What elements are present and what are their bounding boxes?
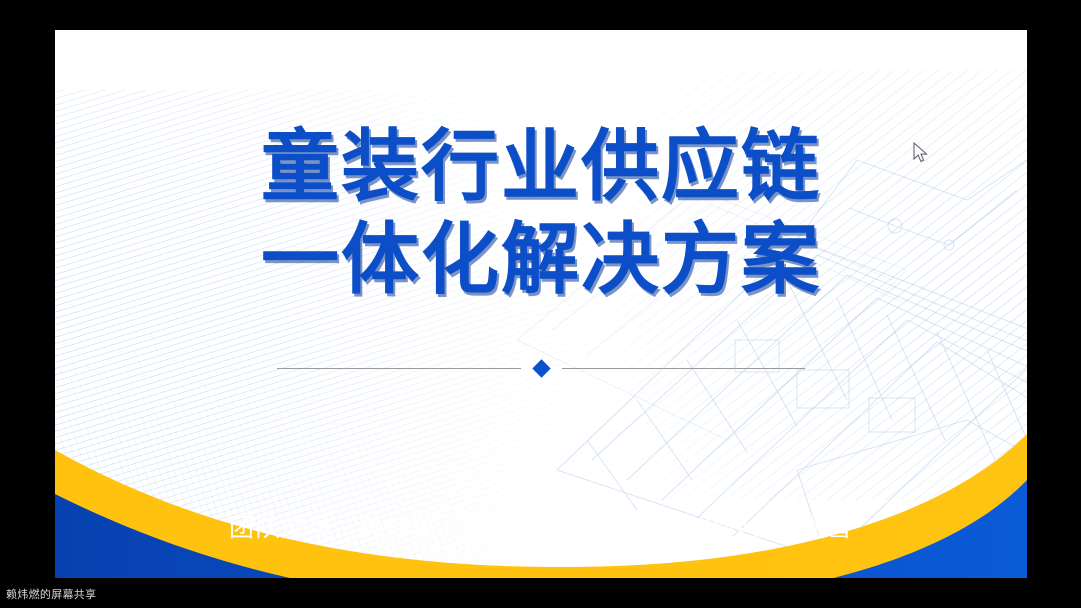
screen-share-status-label: 赖炜燃的屏幕共享 [6,586,96,602]
team-members-subtitle: 团队成员：赖炜燃、黄歆惠、李诗扬、张舒欣、罗瑞雪 [55,508,1027,544]
slide-title-line-1: 童装行业供应链 [55,120,1027,213]
diagonal-line-texture-icon [55,90,605,578]
screen-share-viewport: 童装行业供应链 一体化解决方案 团队成员：赖炜燃、黄歆惠、李诗扬、张舒欣、罗瑞雪… [0,0,1081,608]
slide-title-line-2: 一体化解决方案 [55,213,1027,306]
blueprint-hatch-texture-icon [617,70,1027,500]
arrow-pointer-icon [913,142,929,164]
slide-title: 童装行业供应链 一体化解决方案 [55,120,1027,306]
title-divider [277,358,805,378]
divider-rule-left [277,368,521,369]
presentation-slide: 童装行业供应链 一体化解决方案 团队成员：赖炜燃、黄歆惠、李诗扬、张舒欣、罗瑞雪 [55,30,1027,578]
diagonal-line-texture-secondary-icon [55,280,505,578]
diamond-icon [532,359,550,377]
building-blueprint-icon [497,40,1027,560]
divider-rule-right [562,368,806,369]
